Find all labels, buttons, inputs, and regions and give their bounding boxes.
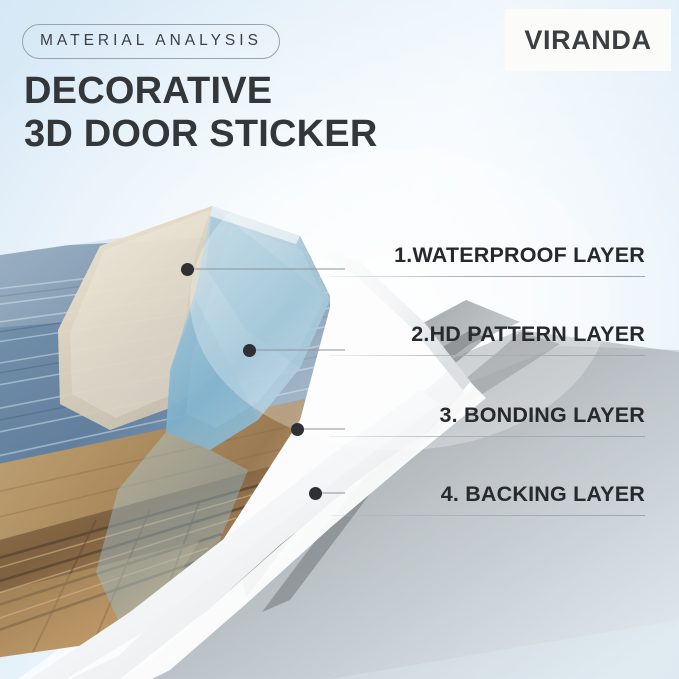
layer-label-4: 4. BACKING LAYER [441,482,645,507]
layer-rule-4 [330,515,645,516]
layer-callout-4: 4. BACKING LAYER [441,482,645,507]
layer-label-2: 2.HD PATTERN LAYER [411,322,645,347]
layer-callout-2: 2.HD PATTERN LAYER [411,322,645,347]
layer-callout-3: 3. BONDING LAYER [440,403,646,428]
page-title: DECORATIVE 3D DOOR STICKER [24,70,377,156]
brand-logo-box: VIRANDA [505,9,671,71]
material-analysis-badge: MATERIAL ANALYSIS [22,24,280,59]
layer-rule-3 [330,436,645,437]
layer-rule-1 [330,276,645,277]
brand-name: VIRANDA [524,25,651,56]
layer-label-3: 3. BONDING LAYER [440,403,646,428]
page-title-line-2: 3D DOOR STICKER [24,113,377,156]
layer-label-1: 1.WATERPROOF LAYER [394,243,645,268]
layer-marker-dot-4 [309,487,322,500]
layer-rule-2 [330,355,645,356]
layer-callout-1: 1.WATERPROOF LAYER [394,243,645,268]
infographic-canvas: MATERIAL ANALYSIS DECORATIVE 3D DOOR STI… [0,0,679,679]
layer-marker-dot-3 [291,423,304,436]
page-title-line-1: DECORATIVE [24,70,272,112]
layer-marker-dot-1 [181,263,194,276]
layer-marker-dot-2 [243,344,256,357]
